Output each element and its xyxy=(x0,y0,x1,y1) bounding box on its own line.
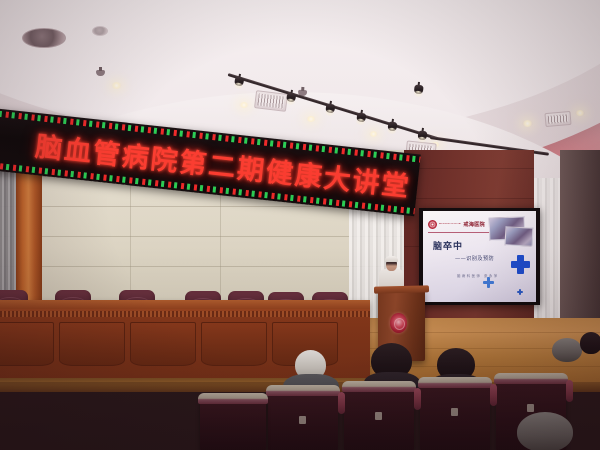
slide-hospital-logo: AFFILIATED HOSPITAL 戒海医院 xyxy=(428,220,485,229)
medical-cross-icon-medium xyxy=(483,277,494,288)
dais-front-panel xyxy=(59,322,125,366)
audience-seat-2 xyxy=(344,388,414,450)
slide-title: 脑卒中 xyxy=(433,239,463,252)
ceiling-vent-disc xyxy=(22,28,66,48)
dais-front-panel xyxy=(201,322,267,366)
seat-armrest-3 xyxy=(490,384,497,406)
wood-grain-line xyxy=(404,198,534,199)
seat-number-plate xyxy=(375,412,382,420)
seat-armrest-4 xyxy=(566,380,573,402)
projector-screen: AFFILIATED HOSPITAL 戒海医院 脑卒中 ——识别及预防 脑病科… xyxy=(419,208,540,305)
audience-head-foreground xyxy=(517,412,573,450)
slide-photo-overlap xyxy=(505,226,534,246)
downlight-7 xyxy=(575,110,585,116)
downlight-6 xyxy=(522,120,533,127)
audience-seat-5 xyxy=(200,400,266,450)
seat-number-plate xyxy=(299,416,306,424)
medical-cross-icon-large xyxy=(511,255,530,274)
auditorium-photo: AFFILIATED HOSPITAL 戒海医院 脑卒中 ——识别及预防 脑病科… xyxy=(0,0,600,450)
podium-lectern-top xyxy=(374,285,429,293)
seat-headrest xyxy=(418,377,492,388)
speaker-nurse-cap xyxy=(385,256,398,262)
dais-table-top xyxy=(0,300,370,309)
seat-number-plate xyxy=(527,404,534,412)
medical-cross-icon-small xyxy=(517,289,523,295)
downlight-3 xyxy=(306,116,316,122)
dais-front-panel xyxy=(130,322,196,366)
track-spotlight-7 xyxy=(414,82,424,96)
dais-decorative-trim xyxy=(0,311,370,317)
track-spotlight-5 xyxy=(387,118,398,132)
ceiling-vent-disc-secondary xyxy=(92,26,108,36)
downlight-1 xyxy=(111,82,122,89)
hospital-emblem-icon xyxy=(428,220,437,229)
seat-number-plate xyxy=(451,408,458,416)
downlight-2 xyxy=(239,102,249,108)
seat-headrest xyxy=(494,373,568,384)
track-spotlight-6 xyxy=(417,127,428,141)
downlight-4 xyxy=(369,131,378,137)
audience-head-4 xyxy=(552,338,582,362)
slide-logo-english: AFFILIATED HOSPITAL xyxy=(439,223,461,226)
seat-armrest-1 xyxy=(338,392,345,414)
audience-head-5 xyxy=(580,332,600,354)
dais-front-panel xyxy=(0,322,54,366)
podium-hospital-emblem-icon xyxy=(390,313,407,333)
slide-subtitle: ——识别及预防 xyxy=(455,255,494,262)
presentation-slide: AFFILIATED HOSPITAL 戒海医院 脑卒中 ——识别及预防 脑病科… xyxy=(423,211,536,302)
audience-seat-3 xyxy=(420,384,490,450)
slide-logo-divider xyxy=(428,232,492,233)
seat-headrest xyxy=(342,381,416,392)
ac-vent-left xyxy=(254,90,288,112)
wood-grain-line xyxy=(404,168,534,169)
seat-headrest xyxy=(266,385,340,396)
slide-logo-chinese: 戒海医院 xyxy=(463,221,485,228)
seat-armrest-2 xyxy=(414,388,421,410)
seat-headrest xyxy=(198,393,268,404)
ac-vent-far-right xyxy=(544,111,571,127)
audience-seat-1 xyxy=(268,392,338,450)
